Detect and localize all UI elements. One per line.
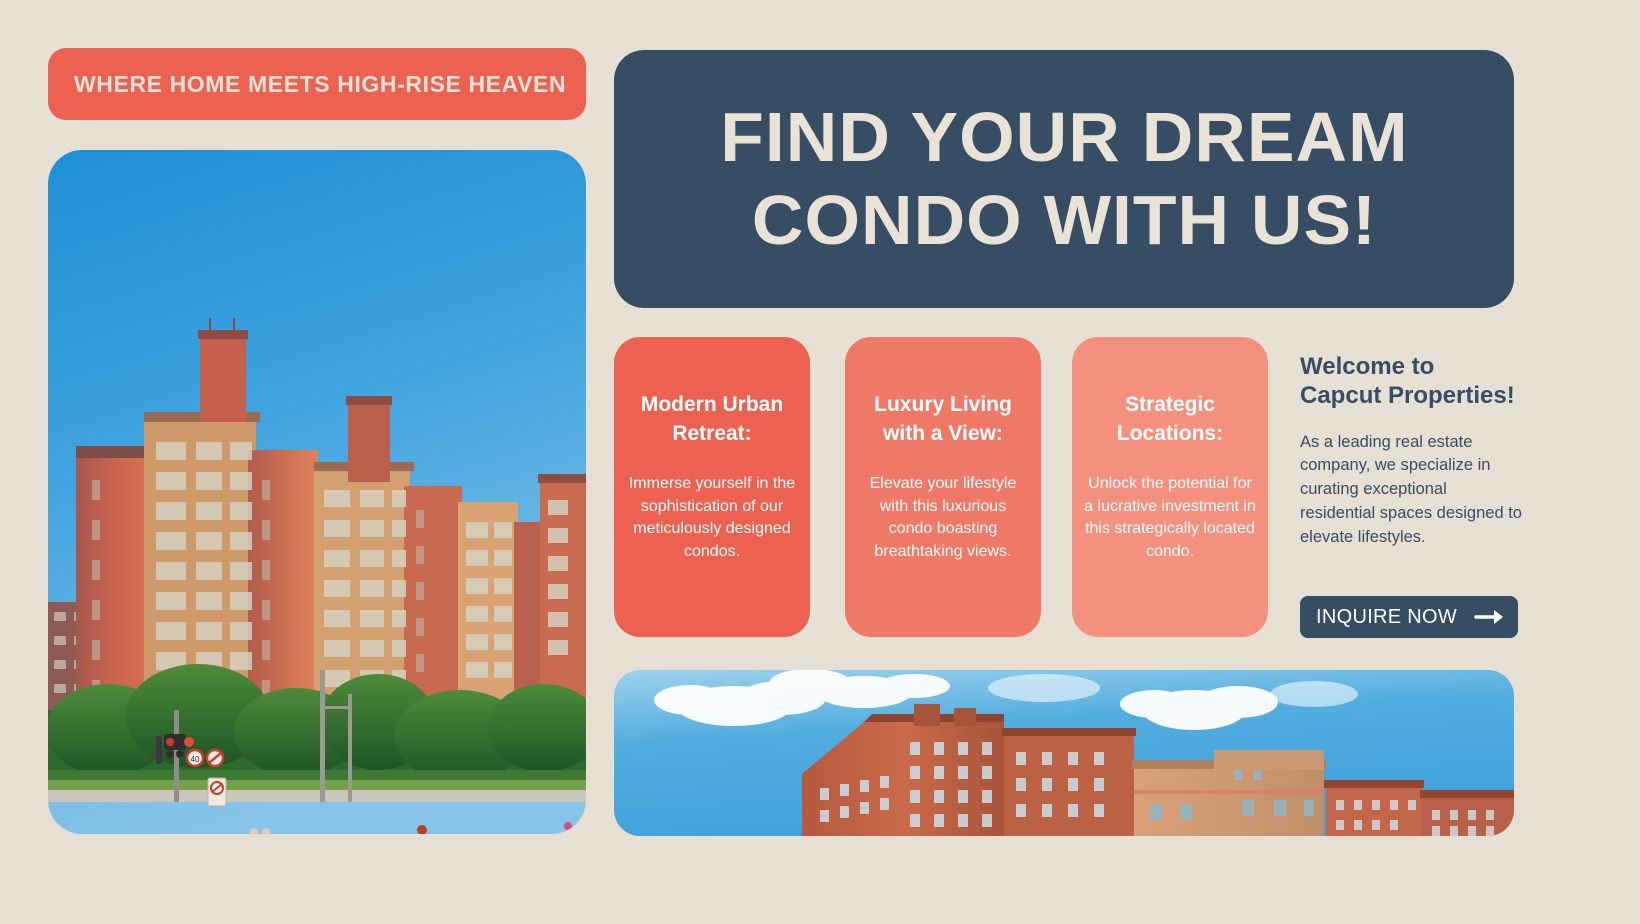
feature-card-body: Elevate your lifestyle with this luxurio… xyxy=(857,473,1029,564)
welcome-title: Welcome to Capcut Properties! xyxy=(1300,352,1522,411)
bottom-image-graphic xyxy=(614,670,1514,836)
tagline-pill: WHERE HOME MEETS HIGH-RISE HEAVEN xyxy=(48,48,586,120)
feature-card-modern-urban-retreat: Modern Urban Retreat: Immerse yourself i… xyxy=(614,337,810,637)
feature-card-body: Unlock the potential for a lucrative inv… xyxy=(1084,473,1256,564)
headline-card: FIND YOUR DREAM CONDO WITH US! xyxy=(614,50,1514,308)
poster-canvas: WHERE HOME MEETS HIGH-RISE HEAVEN xyxy=(0,0,1640,924)
inquire-now-label: INQUIRE NOW xyxy=(1316,606,1457,629)
feature-card-strategic-locations: Strategic Locations: Unlock the potentia… xyxy=(1072,337,1268,637)
welcome-section: Welcome to Capcut Properties! As a leadi… xyxy=(1300,352,1522,549)
hero-image-graphic: 40 xyxy=(48,150,586,834)
headline-line-2: CONDO WITH US! xyxy=(751,179,1376,262)
headline-line-1: FIND YOUR DREAM xyxy=(720,96,1408,179)
hero-image: 40 xyxy=(48,150,586,834)
tagline-text: WHERE HOME MEETS HIGH-RISE HEAVEN xyxy=(74,71,566,98)
arrow-right-icon xyxy=(1474,608,1504,626)
svg-text:40: 40 xyxy=(191,755,200,764)
inquire-now-button[interactable]: INQUIRE NOW xyxy=(1300,596,1518,638)
feature-card-luxury-living-with-a-view: Luxury Living with a View: Elevate your … xyxy=(845,337,1041,637)
feature-card-title: Luxury Living with a View: xyxy=(857,391,1029,449)
welcome-body: As a leading real estate company, we spe… xyxy=(1300,431,1522,550)
feature-card-body: Immerse yourself in the sophistication o… xyxy=(626,473,798,564)
feature-card-title: Modern Urban Retreat: xyxy=(626,391,798,449)
bottom-image xyxy=(614,670,1514,836)
feature-card-title: Strategic Locations: xyxy=(1084,391,1256,449)
